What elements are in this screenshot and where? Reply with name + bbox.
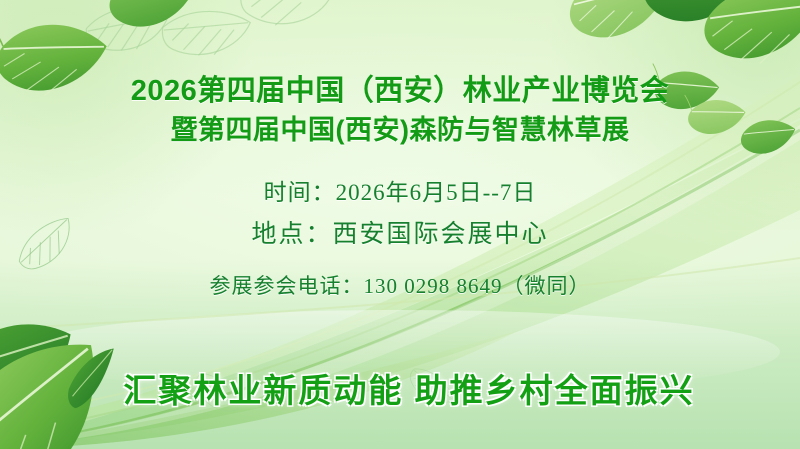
banner-slogan: 汇聚林业新质动能 助推乡村全面振兴 [0,369,800,413]
contact-phone: 参展参会电话：130 0298 8649（微同） [0,270,800,302]
banner-info: 时间：2026年6月5日--7日 地点：西安国际会展中心 参展参会电话：130 … [0,176,800,302]
slogan-text: 汇聚林业新质动能 助推乡村全面振兴 [105,369,694,413]
expo-banner: 2026第四届中国（西安）林业产业博览会 暨第四届中国(西安)森防与智慧林草展 … [0,0,800,449]
banner-title: 2026第四届中国（西安）林业产业博览会 暨第四届中国(西安)森防与智慧林草展 [0,72,800,148]
event-date: 时间：2026年6月5日--7日 [0,176,800,210]
event-venue: 地点：西安国际会展中心 [0,216,800,254]
banner-content: 2026第四届中国（西安）林业产业博览会 暨第四届中国(西安)森防与智慧林草展 … [0,0,800,449]
title-line-2: 暨第四届中国(西安)森防与智慧林草展 [0,112,800,148]
title-line-1: 2026第四届中国（西安）林业产业博览会 [0,72,800,110]
